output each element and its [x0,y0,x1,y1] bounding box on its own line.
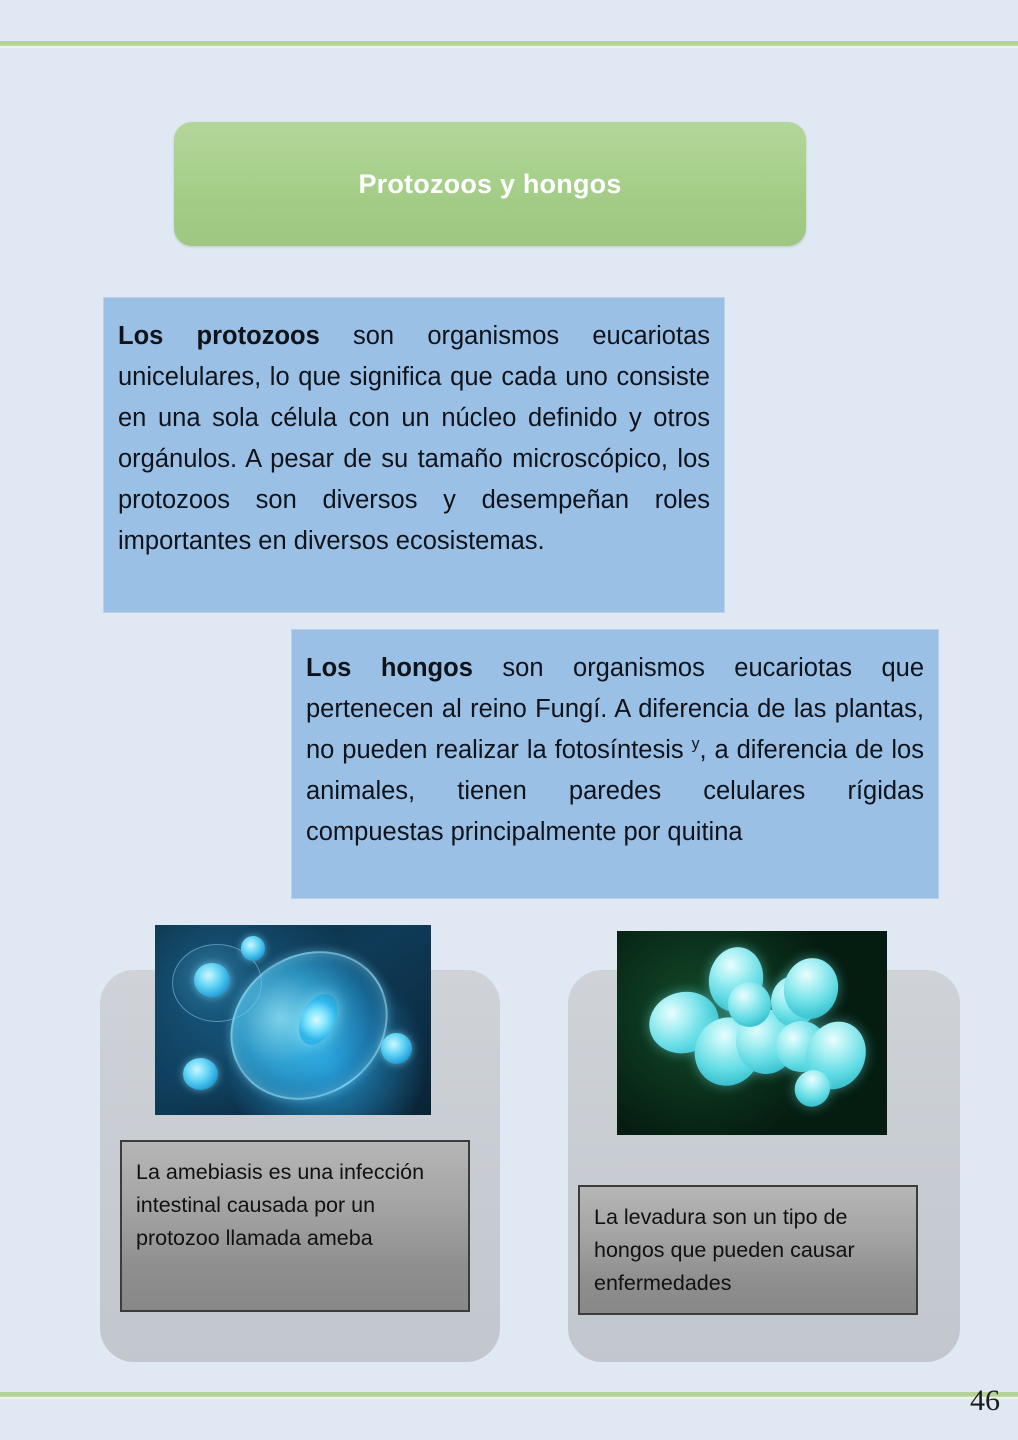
ameba-small-cell-2 [381,1033,411,1063]
hongos-text-panel: Los hongos son organismos eucariotas que… [292,630,938,898]
bottom-rule-highlight [0,1397,1018,1399]
page-title: Protozoos y hongos [358,169,621,200]
caption-text-ameba: La amebiasis es una infección intestinal… [136,1156,454,1255]
document-page: Protozoos y hongos Los protozoos son org… [0,0,1018,1440]
caption-box-ameba: La amebiasis es una infección intestinal… [120,1140,470,1312]
levadura-microscope-photo [617,931,887,1135]
levadura-cell-5 [728,982,771,1027]
page-title-banner: Protozoos y hongos [174,122,806,246]
protozoos-body-text: son organismos eucariotas unicelulares, … [118,322,710,555]
ameba-ghost-nucleus-1 [194,963,230,997]
ameba-nucleus [291,988,344,1051]
page-number: 46 [970,1384,1000,1418]
hongos-lead-term: Los hongos [306,654,473,682]
top-rule-highlight [0,46,1018,48]
ameba-microscope-photo [155,925,431,1115]
caption-text-levadura: La levadura son un tipo de hongos que pu… [594,1201,902,1300]
protozoos-text-panel: Los protozoos son organismos eucariotas … [104,298,724,612]
hongos-paragraph: Los hongos son organismos eucariotas que… [306,648,924,853]
protozoos-paragraph: Los protozoos son organismos eucariotas … [118,316,710,562]
caption-box-levadura: La levadura son un tipo de hongos que pu… [578,1185,918,1315]
protozoos-lead-term: Los protozoos [118,322,320,350]
